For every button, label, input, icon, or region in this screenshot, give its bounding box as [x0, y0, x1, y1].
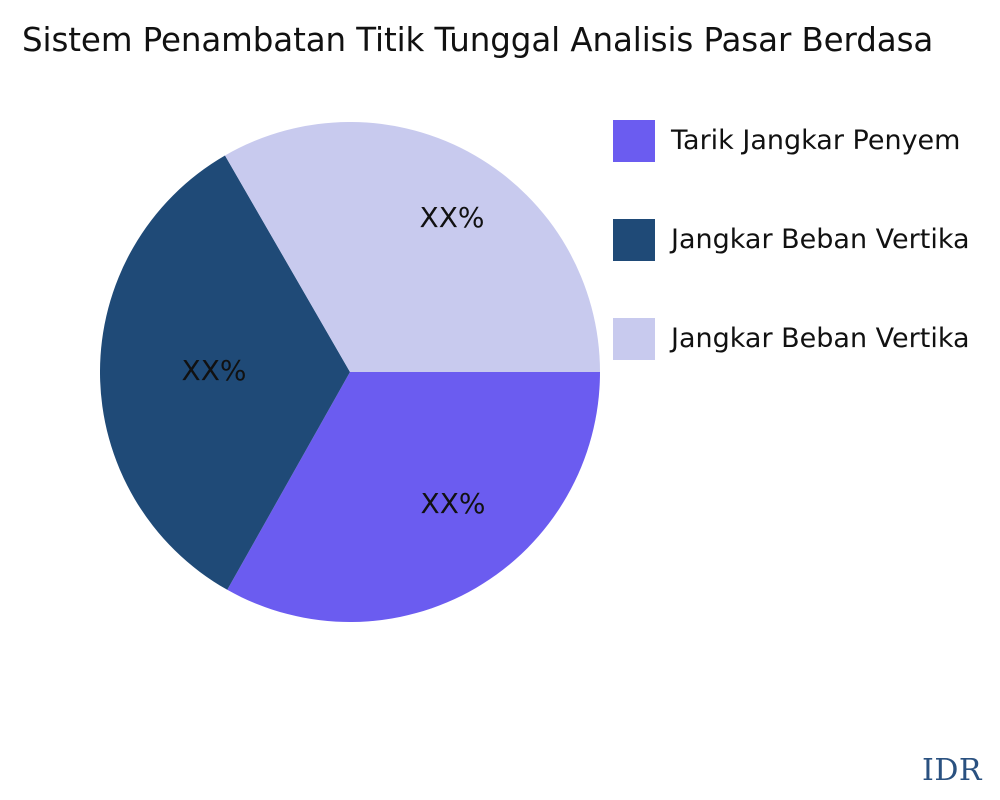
pie-label-purple: XX% — [421, 487, 486, 520]
legend-swatch-lavender — [613, 318, 655, 360]
pie-plot-area: XX% XX% XX% — [100, 122, 600, 622]
pie-slices — [100, 122, 600, 622]
pie-label-dark-blue: XX% — [182, 354, 247, 387]
legend-item-0[interactable]: Tarik Jangkar Penyem — [613, 112, 1000, 211]
footer-brand-mark: IDR — [922, 753, 982, 788]
legend-label-0: Tarik Jangkar Penyem — [671, 120, 960, 162]
legend-item-1[interactable]: Jangkar Beban Vertika — [613, 211, 1000, 310]
legend-swatch-dark-blue — [613, 219, 655, 261]
legend: Tarik Jangkar Penyem Jangkar Beban Verti… — [613, 112, 1000, 409]
legend-label-2: Jangkar Beban Vertika — [671, 318, 970, 360]
legend-item-2[interactable]: Jangkar Beban Vertika — [613, 310, 1000, 409]
legend-swatch-purple — [613, 120, 655, 162]
legend-label-1: Jangkar Beban Vertika — [671, 219, 970, 261]
page-title: Sistem Penambatan Titik Tunggal Analisis… — [22, 20, 1000, 60]
pie-svg: XX% XX% XX% — [100, 122, 600, 622]
pie-chart-figure: Sistem Penambatan Titik Tunggal Analisis… — [0, 0, 1000, 800]
pie-label-lavender: XX% — [420, 201, 485, 234]
